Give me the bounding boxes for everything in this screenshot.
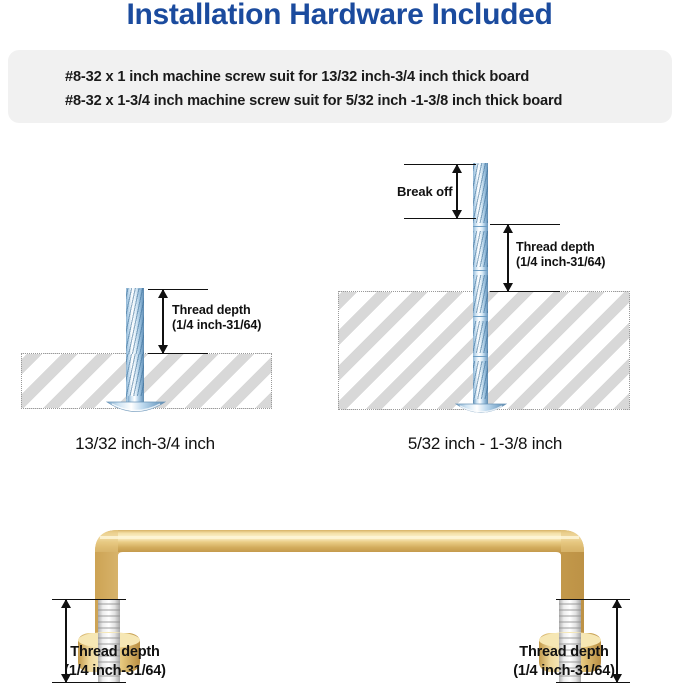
dim-arrow-up-right <box>503 224 513 233</box>
page-title: Installation Hardware Included <box>0 0 679 32</box>
dim-arrow-up-breakoff <box>452 164 462 173</box>
thread-depth-label-right-line2: (1/4 inch-31/64) <box>516 255 605 270</box>
dim-arrow-up-handle-right <box>612 599 622 608</box>
thread-depth-label-handle-right-line1: Thread depth <box>449 643 679 662</box>
dim-line-left <box>162 290 164 353</box>
screw-groove-line-3 <box>473 316 488 317</box>
screw-head-left <box>106 396 166 418</box>
thread-depth-label-handle-left: Thread depth (1/4 inch-31/64) <box>0 643 230 681</box>
spec-line-1: #8-32 x 1 inch machine screw suit for 13… <box>65 69 529 85</box>
handle-section: Thread depth (1/4 inch-31/64) Thread dep… <box>0 490 679 690</box>
screw-groove-line-1 <box>473 226 488 227</box>
screw-breakaway-groove-3 <box>473 313 488 321</box>
screw-thread-texture-entry <box>473 275 488 313</box>
screw-shaft-embedded-left <box>126 354 144 402</box>
dim-tick-top-left <box>148 289 208 290</box>
spec-line-2: #8-32 x 1-3/4 inch machine screw suit fo… <box>65 93 562 109</box>
dim-arrow-down-right <box>503 283 513 292</box>
screw-breakaway-groove-4 <box>473 353 488 361</box>
screw-shaft-mid-right <box>473 231 488 267</box>
dim-arrow-down-breakoff <box>452 210 462 219</box>
thread-depth-label-left-line1: Thread depth <box>172 303 261 318</box>
spec-callout-box: #8-32 x 1 inch machine screw suit for 13… <box>8 50 672 123</box>
screw-breakaway-groove-2 <box>473 267 488 275</box>
screw-thread-texture-breakoff <box>473 163 488 223</box>
dim-tick-breakoff-top <box>404 164 476 165</box>
dim-arrow-down-left <box>158 345 168 354</box>
thread-depth-label-handle-right-line2: (1/4 inch-31/64) <box>449 662 679 681</box>
screw-thread-texture-mid <box>473 231 488 267</box>
break-off-label: Break off <box>397 184 452 199</box>
dim-arrow-up-left <box>158 289 168 298</box>
screw-shaft-entry-right <box>473 275 488 313</box>
screw-shaft-breakoff-right <box>473 163 488 223</box>
screw-head-right <box>455 399 507 419</box>
thread-depth-label-handle-right: Thread depth (1/4 inch-31/64) <box>449 643 679 681</box>
screw-shaft-embedded-right-a <box>473 321 488 353</box>
dim-arrow-up-handle-left <box>61 599 71 608</box>
dim-tick-top-right <box>490 224 560 225</box>
screw-breakaway-groove-1 <box>473 223 488 231</box>
screw-thread-texture-left-lower <box>126 354 144 402</box>
caption-right: 5/32 inch - 1-3/8 inch <box>340 434 630 454</box>
screw-groove-line-2 <box>473 270 488 271</box>
thread-depth-label-right-line1: Thread depth <box>516 240 605 255</box>
dim-tick-bottom-left <box>148 353 208 354</box>
dim-tick-breakoff-bottom <box>404 218 476 219</box>
thread-depth-label-left-line2: (1/4 inch-31/64) <box>172 318 261 333</box>
thread-depth-label-left: Thread depth (1/4 inch-31/64) <box>172 303 261 333</box>
dim-line-right <box>507 225 509 291</box>
thread-depth-label-handle-left-line2: (1/4 inch-31/64) <box>0 662 230 681</box>
screw-groove-line-4 <box>473 356 488 357</box>
screw-thread-texture-left-upper <box>126 288 144 354</box>
dim-tick-bottom-right <box>490 291 560 292</box>
thread-depth-label-handle-left-line1: Thread depth <box>0 643 230 662</box>
thread-depth-label-right: Thread depth (1/4 inch-31/64) <box>516 240 605 270</box>
caption-left: 13/32 inch-3/4 inch <box>0 434 290 454</box>
screw-thread-texture-embed-a <box>473 321 488 353</box>
infographic-page: Installation Hardware Included #8-32 x 1… <box>0 0 679 690</box>
screw-shaft-upper-left <box>126 288 144 354</box>
